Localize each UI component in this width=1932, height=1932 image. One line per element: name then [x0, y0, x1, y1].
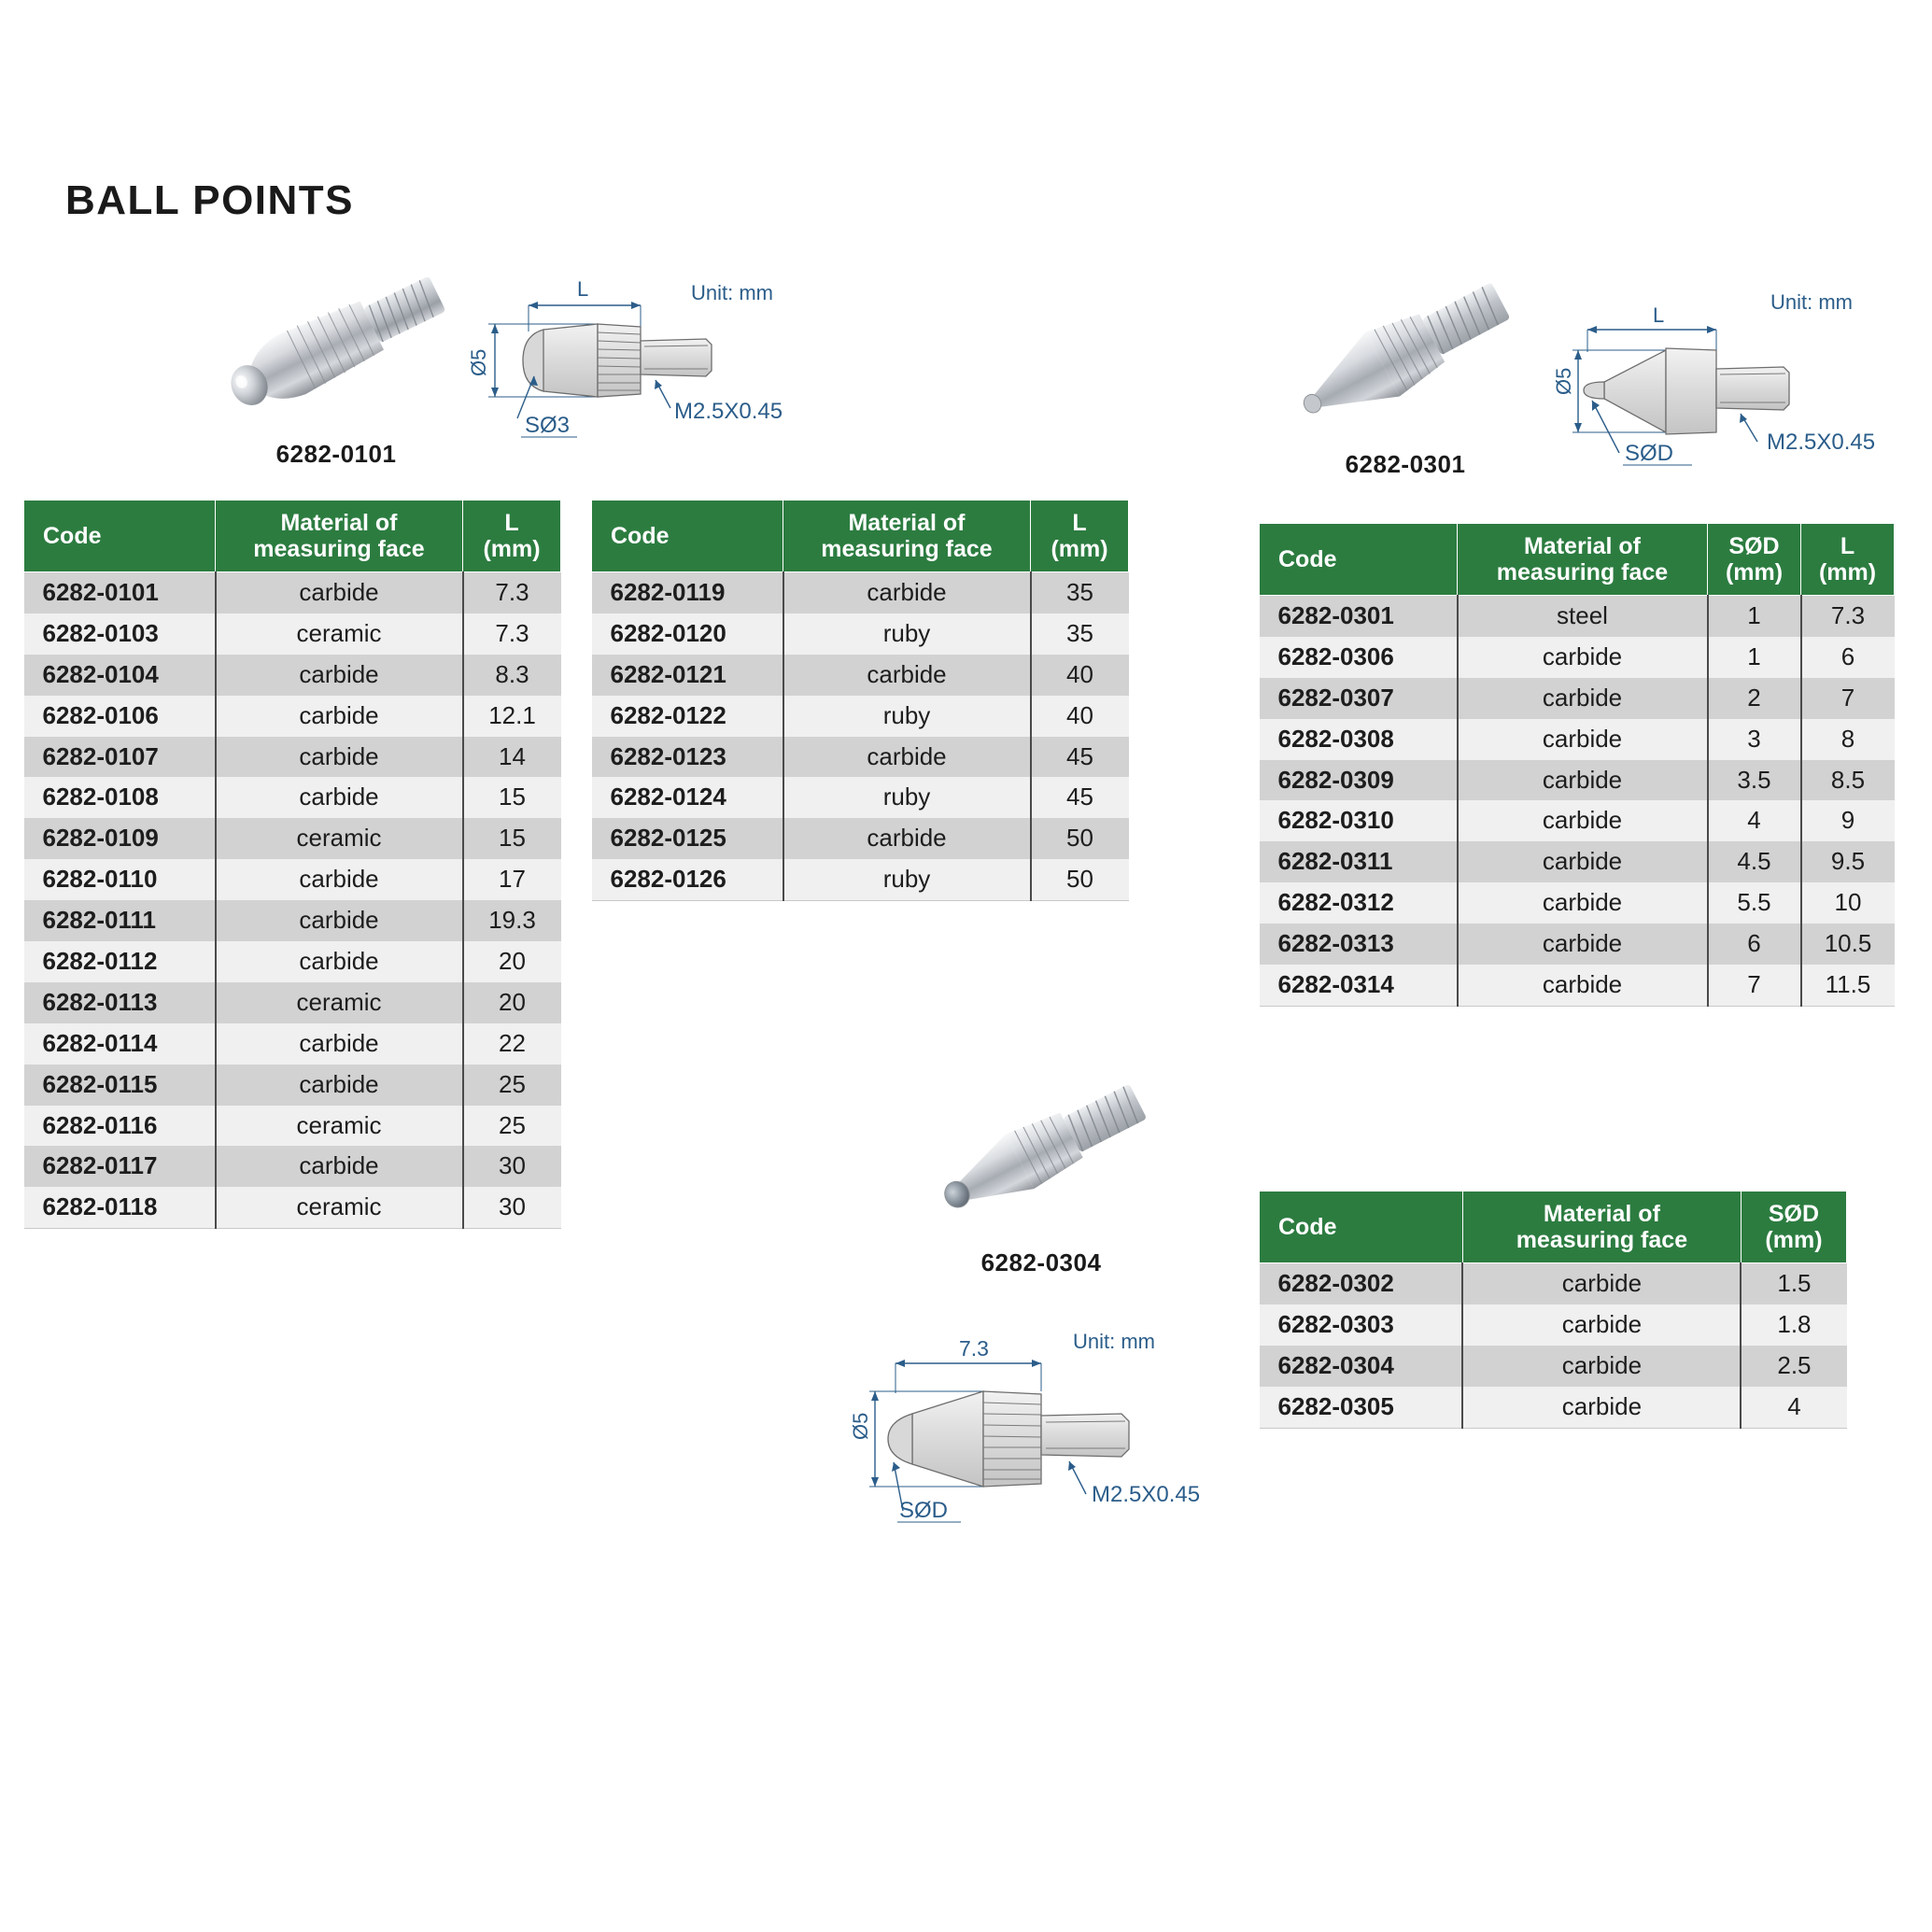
- cell-material: carbide: [216, 737, 463, 778]
- cell-sod: 2: [1708, 678, 1801, 719]
- cell-length: 35: [1031, 613, 1129, 655]
- product-block-6282-0304: 6282-0304: [892, 1074, 1191, 1277]
- cell-material: carbide: [216, 1146, 463, 1187]
- cell-length: 10.5: [1801, 924, 1895, 965]
- technical-drawing-6282-0304: Unit: mm 7.3 Ø5: [845, 1317, 1237, 1559]
- cell-material: carbide: [216, 1023, 463, 1065]
- cell-length: 7: [1801, 678, 1895, 719]
- cell-length: 19.3: [463, 900, 561, 941]
- product-photo-taper-ball-point: [901, 1074, 1181, 1242]
- column-header-sod: SØD (mm): [1708, 524, 1801, 596]
- length-dim-label: L: [1653, 303, 1664, 327]
- table-row: 6282-0106carbide12.1: [24, 696, 561, 737]
- cell-sod: 1: [1708, 596, 1801, 637]
- table-row: 6282-0302carbide1.5: [1260, 1263, 1847, 1304]
- table-row: 6282-0110carbide17: [24, 859, 561, 900]
- cell-length: 12.1: [463, 696, 561, 737]
- cell-material: carbide: [216, 696, 463, 737]
- cell-code: 6282-0109: [24, 818, 216, 859]
- tip-dim-label: SØD: [1625, 441, 1673, 466]
- diameter-dim-label: Ø5: [467, 349, 490, 376]
- cell-material: carbide: [216, 572, 463, 613]
- cell-length: 17: [463, 859, 561, 900]
- cell-code: 6282-0110: [24, 859, 216, 900]
- cell-code: 6282-0118: [24, 1187, 216, 1228]
- spec-table-1: Code Material of measuring face L (mm) 6…: [23, 500, 561, 1229]
- technical-drawing-6282-0301: Unit: mm L Ø5 SØD M2.5X0.45: [1550, 275, 1924, 476]
- tip-dim-label: SØ3: [525, 413, 570, 438]
- cell-code: 6282-0121: [592, 655, 783, 696]
- product-caption: 6282-0304: [892, 1248, 1191, 1277]
- product-caption: 6282-0301: [1251, 450, 1559, 479]
- table-row: 6282-0125carbide50: [592, 818, 1129, 859]
- cell-sod: 4: [1741, 1387, 1846, 1428]
- spec-table-3: Code Material of measuring face SØD (mm)…: [1259, 523, 1895, 1007]
- cell-material: ruby: [783, 613, 1031, 655]
- cell-code: 6282-0311: [1260, 841, 1458, 882]
- cell-code: 6282-0114: [24, 1023, 216, 1065]
- table-header-row: Code Material of measuring face L (mm): [592, 501, 1129, 572]
- cell-material: carbide: [1462, 1304, 1741, 1346]
- cell-sod: 1.5: [1741, 1263, 1846, 1304]
- product-block-6282-0101: 6282-0101: [187, 266, 486, 469]
- cell-material: carbide: [783, 818, 1031, 859]
- cell-material: carbide: [216, 859, 463, 900]
- cell-material: ceramic: [216, 1187, 463, 1228]
- table-row: 6282-0120ruby35: [592, 613, 1129, 655]
- diameter-dim-label: Ø5: [849, 1413, 872, 1440]
- cell-material: carbide: [1458, 800, 1708, 841]
- table-row: 6282-0116ceramic25: [24, 1106, 561, 1147]
- unit-label: Unit: mm: [1073, 1330, 1155, 1353]
- product-block-6282-0301: 6282-0301: [1251, 275, 1559, 479]
- cell-length: 6: [1801, 637, 1895, 678]
- cell-code: 6282-0302: [1260, 1263, 1463, 1304]
- cell-code: 6282-0111: [24, 900, 216, 941]
- table-header-row: Code Material of measuring face SØD (mm): [1260, 1192, 1847, 1263]
- table-row: 6282-0123carbide45: [592, 737, 1129, 778]
- table-row: 6282-0303carbide1.8: [1260, 1304, 1847, 1346]
- cell-material: ruby: [783, 859, 1031, 900]
- cell-material: ruby: [783, 696, 1031, 737]
- cell-code: 6282-0116: [24, 1106, 216, 1147]
- table-row: 6282-0115carbide25: [24, 1065, 561, 1106]
- column-header-sod: SØD (mm): [1741, 1192, 1846, 1263]
- cell-length: 10: [1801, 882, 1895, 924]
- cell-length: 8.3: [463, 655, 561, 696]
- cell-code: 6282-0115: [24, 1065, 216, 1106]
- cell-material: carbide: [1458, 760, 1708, 801]
- table-header-row: Code Material of measuring face L (mm): [24, 501, 561, 572]
- cell-code: 6282-0120: [592, 613, 783, 655]
- cell-length: 40: [1031, 696, 1129, 737]
- cell-material: carbide: [1462, 1387, 1741, 1428]
- table-row: 6282-0304carbide2.5: [1260, 1346, 1847, 1387]
- table-row: 6282-0307carbide27: [1260, 678, 1895, 719]
- cell-length: 30: [463, 1187, 561, 1228]
- column-header-length: L (mm): [1801, 524, 1895, 596]
- cell-material: carbide: [216, 1065, 463, 1106]
- table-row: 6282-0309carbide3.58.5: [1260, 760, 1895, 801]
- cell-code: 6282-0125: [592, 818, 783, 859]
- cell-code: 6282-0123: [592, 737, 783, 778]
- length-dim-label: L: [577, 277, 588, 301]
- table-row: 6282-0108carbide15: [24, 777, 561, 818]
- table-row: 6282-0111carbide19.3: [24, 900, 561, 941]
- technical-drawing-6282-0101: Unit: mm L Ø5: [458, 266, 831, 467]
- cell-material: carbide: [1458, 678, 1708, 719]
- cell-length: 25: [463, 1065, 561, 1106]
- table-row: 6282-0312carbide5.510: [1260, 882, 1895, 924]
- table-row: 6282-0119carbide35: [592, 572, 1129, 613]
- table-row: 6282-0117carbide30: [24, 1146, 561, 1187]
- cell-sod: 3.5: [1708, 760, 1801, 801]
- thread-label: M2.5X0.45: [674, 399, 783, 424]
- diameter-dim-label: Ø5: [1552, 368, 1575, 395]
- table-row: 6282-0124ruby45: [592, 777, 1129, 818]
- cell-sod: 7: [1708, 965, 1801, 1006]
- cell-material: ceramic: [216, 613, 463, 655]
- cell-material: carbide: [216, 941, 463, 982]
- table-row: 6282-0104carbide8.3: [24, 655, 561, 696]
- cell-code: 6282-0305: [1260, 1387, 1463, 1428]
- table-row: 6282-0301steel17.3: [1260, 596, 1895, 637]
- column-header-code: Code: [1260, 1192, 1463, 1263]
- table-row: 6282-0118ceramic30: [24, 1187, 561, 1228]
- cell-code: 6282-0126: [592, 859, 783, 900]
- thread-label: M2.5X0.45: [1092, 1482, 1200, 1507]
- cell-length: 50: [1031, 818, 1129, 859]
- table-row: 6282-0313carbide610.5: [1260, 924, 1895, 965]
- cell-material: ceramic: [216, 982, 463, 1023]
- cell-material: carbide: [1458, 965, 1708, 1006]
- cell-length: 14: [463, 737, 561, 778]
- cell-sod: 1: [1708, 637, 1801, 678]
- cell-sod: 3: [1708, 719, 1801, 760]
- cell-code: 6282-0108: [24, 777, 216, 818]
- cell-code: 6282-0309: [1260, 760, 1458, 801]
- cell-code: 6282-0307: [1260, 678, 1458, 719]
- cell-code: 6282-0112: [24, 941, 216, 982]
- cell-code: 6282-0101: [24, 572, 216, 613]
- table-row: 6282-0310carbide49: [1260, 800, 1895, 841]
- cell-length: 45: [1031, 737, 1129, 778]
- cell-length: 50: [1031, 859, 1129, 900]
- cell-code: 6282-0122: [592, 696, 783, 737]
- page-title: BALL POINTS: [65, 177, 354, 224]
- column-header-material: Material of measuring face: [1462, 1192, 1741, 1263]
- cell-length: 20: [463, 941, 561, 982]
- cell-code: 6282-0104: [24, 655, 216, 696]
- column-header-length: L (mm): [463, 501, 561, 572]
- cell-length: 7.3: [463, 613, 561, 655]
- thread-label: M2.5X0.45: [1767, 430, 1875, 455]
- cell-code: 6282-0312: [1260, 882, 1458, 924]
- table-row: 6282-0122ruby40: [592, 696, 1129, 737]
- cell-length: 9: [1801, 800, 1895, 841]
- table-row: 6282-0109ceramic15: [24, 818, 561, 859]
- cell-sod: 1.8: [1741, 1304, 1846, 1346]
- cell-material: carbide: [1458, 719, 1708, 760]
- cell-code: 6282-0124: [592, 777, 783, 818]
- product-photo-ball-point-straight: [196, 266, 476, 430]
- cell-length: 22: [463, 1023, 561, 1065]
- cell-material: carbide: [1458, 841, 1708, 882]
- cell-code: 6282-0314: [1260, 965, 1458, 1006]
- table-row: 6282-0126ruby50: [592, 859, 1129, 900]
- spec-table-4: Code Material of measuring face SØD (mm)…: [1259, 1191, 1847, 1429]
- cell-material: carbide: [783, 655, 1031, 696]
- cell-code: 6282-0106: [24, 696, 216, 737]
- tip-dim-label: SØD: [899, 1498, 948, 1523]
- spec-table-2: Code Material of measuring face L (mm) 6…: [591, 500, 1129, 901]
- cell-code: 6282-0301: [1260, 596, 1458, 637]
- cell-material: carbide: [1458, 882, 1708, 924]
- table-row: 6282-0308carbide38: [1260, 719, 1895, 760]
- cell-code: 6282-0303: [1260, 1304, 1463, 1346]
- cell-material: carbide: [1458, 637, 1708, 678]
- cell-code: 6282-0117: [24, 1146, 216, 1187]
- cell-material: ceramic: [216, 1106, 463, 1147]
- cell-material: carbide: [216, 655, 463, 696]
- column-header-length: L (mm): [1031, 501, 1129, 572]
- table-row: 6282-0113ceramic20: [24, 982, 561, 1023]
- cell-code: 6282-0304: [1260, 1346, 1463, 1387]
- column-header-material: Material of measuring face: [1458, 524, 1708, 596]
- table-header-row: Code Material of measuring face SØD (mm)…: [1260, 524, 1895, 596]
- table-row: 6282-0112carbide20: [24, 941, 561, 982]
- cell-length: 15: [463, 818, 561, 859]
- cell-length: 8.5: [1801, 760, 1895, 801]
- column-header-material: Material of measuring face: [216, 501, 463, 572]
- table-row: 6282-0101carbide7.3: [24, 572, 561, 613]
- product-photo-needle-point: [1265, 275, 1545, 444]
- cell-material: ruby: [783, 777, 1031, 818]
- table-row: 6282-0121carbide40: [592, 655, 1129, 696]
- table-row: 6282-0103ceramic7.3: [24, 613, 561, 655]
- table-row: 6282-0107carbide14: [24, 737, 561, 778]
- cell-code: 6282-0313: [1260, 924, 1458, 965]
- cell-length: 40: [1031, 655, 1129, 696]
- length-dim-label: 7.3: [959, 1336, 989, 1361]
- cell-sod: 4: [1708, 800, 1801, 841]
- table-row: 6282-0114carbide22: [24, 1023, 561, 1065]
- cell-sod: 2.5: [1741, 1346, 1846, 1387]
- cell-code: 6282-0308: [1260, 719, 1458, 760]
- cell-length: 45: [1031, 777, 1129, 818]
- cell-length: 20: [463, 982, 561, 1023]
- column-header-code: Code: [592, 501, 783, 572]
- table-row: 6282-0305carbide4: [1260, 1387, 1847, 1428]
- cell-code: 6282-0119: [592, 572, 783, 613]
- cell-material: carbide: [783, 572, 1031, 613]
- cell-code: 6282-0306: [1260, 637, 1458, 678]
- cell-length: 7.3: [1801, 596, 1895, 637]
- table-row: 6282-0306carbide16: [1260, 637, 1895, 678]
- cell-code: 6282-0113: [24, 982, 216, 1023]
- cell-sod: 6: [1708, 924, 1801, 965]
- column-header-code: Code: [24, 501, 216, 572]
- cell-code: 6282-0107: [24, 737, 216, 778]
- cell-length: 35: [1031, 572, 1129, 613]
- unit-label: Unit: mm: [1770, 290, 1853, 314]
- cell-length: 30: [463, 1146, 561, 1187]
- cell-sod: 4.5: [1708, 841, 1801, 882]
- column-header-code: Code: [1260, 524, 1458, 596]
- cell-material: carbide: [783, 737, 1031, 778]
- cell-material: carbide: [216, 900, 463, 941]
- cell-material: carbide: [216, 777, 463, 818]
- cell-material: carbide: [1462, 1346, 1741, 1387]
- table-row: 6282-0314carbide711.5: [1260, 965, 1895, 1006]
- cell-code: 6282-0103: [24, 613, 216, 655]
- cell-material: carbide: [1458, 924, 1708, 965]
- unit-label: Unit: mm: [691, 281, 773, 304]
- cell-length: 25: [463, 1106, 561, 1147]
- cell-code: 6282-0310: [1260, 800, 1458, 841]
- cell-length: 11.5: [1801, 965, 1895, 1006]
- cell-length: 15: [463, 777, 561, 818]
- cell-length: 7.3: [463, 572, 561, 613]
- cell-material: steel: [1458, 596, 1708, 637]
- cell-sod: 5.5: [1708, 882, 1801, 924]
- product-caption: 6282-0101: [187, 440, 486, 469]
- cell-material: ceramic: [216, 818, 463, 859]
- column-header-material: Material of measuring face: [783, 501, 1031, 572]
- cell-length: 9.5: [1801, 841, 1895, 882]
- table-row: 6282-0311carbide4.59.5: [1260, 841, 1895, 882]
- cell-material: carbide: [1462, 1263, 1741, 1304]
- cell-length: 8: [1801, 719, 1895, 760]
